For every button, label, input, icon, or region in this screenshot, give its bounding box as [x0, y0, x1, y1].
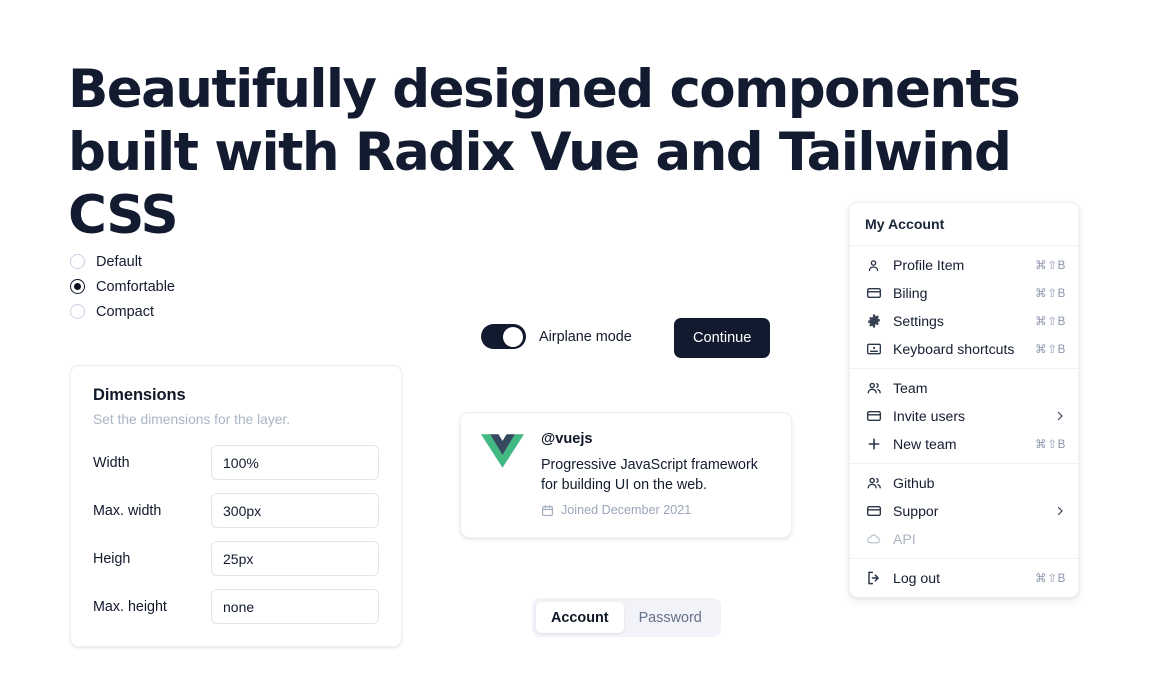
- menu-group-external: Github Suppor API: [850, 464, 1078, 558]
- account-dropdown-menu: My Account Profile Item ⌘⇧B Biling ⌘⇧B: [849, 202, 1079, 598]
- field-label: Width: [93, 455, 197, 471]
- max-height-input[interactable]: [211, 589, 379, 624]
- card-subtitle: Set the dimensions for the layer.: [93, 412, 379, 427]
- vuejs-description: Progressive JavaScript framework for bui…: [541, 455, 771, 495]
- page-title-line-1: Beautifully designed components: [68, 58, 1028, 121]
- menu-item-log-out[interactable]: Log out ⌘⇧B: [850, 564, 1078, 592]
- continue-button[interactable]: Continue: [674, 318, 770, 358]
- max-width-input[interactable]: [211, 493, 379, 528]
- menu-group-session: Log out ⌘⇧B: [850, 559, 1078, 597]
- menu-item-invite-users[interactable]: Invite users: [850, 402, 1078, 430]
- menu-item-settings[interactable]: Settings ⌘⇧B: [850, 307, 1078, 335]
- airplane-mode-switch[interactable]: [481, 324, 526, 349]
- height-input[interactable]: [211, 541, 379, 576]
- gear-icon: [865, 313, 882, 330]
- settings-tabs: Account Password: [532, 598, 721, 637]
- user-icon: [865, 257, 882, 274]
- menu-item-label: Team: [893, 380, 1066, 396]
- menu-item-label: Biling: [893, 285, 1027, 301]
- menu-item-label: Profile Item: [893, 257, 1027, 273]
- airplane-mode-label: Airplane mode: [539, 329, 632, 345]
- menu-item-label: Keyboard shortcuts: [893, 341, 1027, 357]
- menu-item-label: Suppor: [893, 503, 1046, 519]
- field-row-max-width: Max. width: [93, 493, 379, 528]
- radio-option-default[interactable]: Default: [70, 249, 175, 274]
- tab-account[interactable]: Account: [536, 602, 624, 633]
- field-label: Max. height: [93, 599, 197, 615]
- menu-item-new-team[interactable]: New team ⌘⇧B: [850, 430, 1078, 458]
- radio-indicator-icon: [70, 304, 85, 319]
- users-icon: [865, 475, 882, 492]
- airplane-mode-switch-group: Airplane mode: [481, 324, 632, 349]
- credit-card-icon: [865, 408, 882, 425]
- field-row-max-height: Max. height: [93, 589, 379, 624]
- menu-item-shortcut: ⌘⇧B: [1035, 286, 1066, 300]
- toggle-switch-icon: [503, 327, 523, 347]
- logout-icon: [865, 570, 882, 587]
- field-label: Max. width: [93, 503, 197, 519]
- calendar-icon: [541, 504, 554, 517]
- menu-item-label: New team: [893, 436, 1027, 452]
- card-title: Dimensions: [93, 386, 379, 405]
- vue-logo-icon: [481, 433, 524, 476]
- menu-item-billing[interactable]: Biling ⌘⇧B: [850, 279, 1078, 307]
- radio-option-label: Comfortable: [96, 279, 175, 295]
- vuejs-hover-card: @vuejs Progressive JavaScript framework …: [460, 412, 792, 538]
- field-row-width: Width: [93, 445, 379, 480]
- menu-item-shortcut: ⌘⇧B: [1035, 571, 1066, 585]
- menu-item-label: Invite users: [893, 408, 1046, 424]
- field-row-height: Heigh: [93, 541, 379, 576]
- menu-item-profile[interactable]: Profile Item ⌘⇧B: [850, 251, 1078, 279]
- tab-password[interactable]: Password: [624, 602, 717, 633]
- menu-group-account: Profile Item ⌘⇧B Biling ⌘⇧B Settings ⌘⇧B: [850, 246, 1078, 368]
- menu-item-support[interactable]: Suppor: [850, 497, 1078, 525]
- plus-icon: [865, 436, 882, 453]
- radio-option-label: Default: [96, 254, 142, 270]
- keyboard-icon: [865, 341, 882, 358]
- menu-group-team: Team Invite users New team ⌘⇧B: [850, 369, 1078, 463]
- chevron-right-icon: [1054, 410, 1066, 422]
- dimensions-fields: Width Max. width Heigh Max. height: [93, 445, 379, 624]
- hover-card-body: @vuejs Progressive JavaScript framework …: [541, 431, 771, 517]
- radio-group: Default Comfortable Compact: [70, 249, 175, 324]
- menu-header-label: My Account: [850, 203, 1078, 245]
- radio-option-comfortable[interactable]: Comfortable: [70, 274, 175, 299]
- menu-item-label: Github: [893, 475, 1066, 491]
- menu-item-shortcut: ⌘⇧B: [1035, 314, 1066, 328]
- users-icon: [865, 380, 882, 397]
- cloud-icon: [865, 531, 882, 548]
- radio-option-compact[interactable]: Compact: [70, 299, 175, 324]
- vuejs-handle: @vuejs: [541, 431, 771, 447]
- joined-date-text: Joined December 2021: [561, 503, 691, 517]
- radio-option-label: Compact: [96, 304, 154, 320]
- radio-indicator-icon: [70, 279, 85, 294]
- menu-item-team[interactable]: Team: [850, 374, 1078, 402]
- field-label: Heigh: [93, 551, 197, 567]
- menu-item-label: Settings: [893, 313, 1027, 329]
- menu-item-label: Log out: [893, 570, 1027, 586]
- menu-item-shortcut: ⌘⇧B: [1035, 258, 1066, 272]
- width-input[interactable]: [211, 445, 379, 480]
- radio-indicator-icon: [70, 254, 85, 269]
- dimensions-card: Dimensions Set the dimensions for the la…: [70, 365, 402, 647]
- menu-item-label: API: [893, 531, 1066, 547]
- menu-item-shortcut: ⌘⇧B: [1035, 437, 1066, 451]
- menu-item-api: API: [850, 525, 1078, 553]
- credit-card-icon: [865, 285, 882, 302]
- menu-item-keyboard-shortcuts[interactable]: Keyboard shortcuts ⌘⇧B: [850, 335, 1078, 363]
- credit-card-icon: [865, 503, 882, 520]
- vuejs-joined-meta: Joined December 2021: [541, 503, 771, 517]
- menu-item-github[interactable]: Github: [850, 469, 1078, 497]
- menu-item-shortcut: ⌘⇧B: [1035, 342, 1066, 356]
- chevron-right-icon: [1054, 505, 1066, 517]
